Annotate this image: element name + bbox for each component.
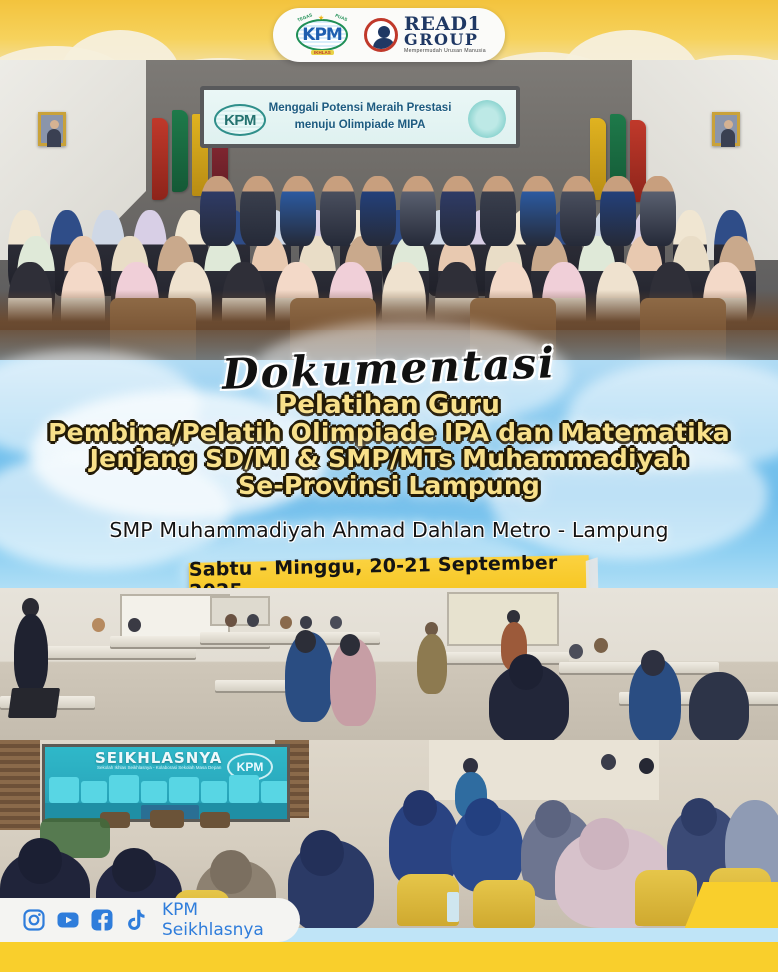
social-media-bar: KPM Seikhlasnya (0, 898, 300, 942)
participant-silhouette (240, 176, 276, 246)
participant-silhouette (400, 176, 436, 246)
flag-green (172, 110, 188, 192)
facebook-icon[interactable] (90, 908, 114, 932)
social-handle: KPM Seikhlasnya (162, 900, 300, 940)
hall-screen-subtitle: Sekolah Ikhlas Seikhlasnya - Kolaborasi … (97, 765, 227, 772)
photo-classroom-right (389, 588, 778, 740)
muhammadiyah-sun-emblem (468, 100, 506, 138)
participant-silhouette (640, 176, 676, 246)
wall-portrait-left (38, 112, 66, 146)
participant-silhouette (280, 176, 316, 246)
stage-screen-line1: Menggali Potensi Meraih Prestasi (253, 100, 468, 117)
youtube-icon[interactable] (56, 908, 80, 932)
participant-silhouette (320, 176, 356, 246)
kpm-logo: KPM TEGAS PUAS IKHLAS ★ (292, 15, 352, 55)
read1-logo-tagline: Mempermudah Urusan Manusia (404, 49, 486, 54)
participant-silhouette (600, 176, 636, 246)
participant-silhouette (440, 176, 476, 246)
photo-classroom-left (0, 588, 389, 740)
flag-red (152, 118, 168, 200)
stage-projector-screen: KPM Menggali Potensi Meraih Prestasi men… (200, 86, 520, 148)
stage-screen-line2: menuju Olimpiade MIPA (253, 117, 468, 134)
footer-yellow-bar (0, 942, 778, 972)
star-icon: ★ (318, 14, 324, 22)
title-line-3: Jenjang SD/MI & SMP/MTs Muhammadiyah (0, 446, 778, 473)
participant-silhouette (560, 176, 596, 246)
instagram-icon[interactable] (22, 908, 46, 932)
participant-silhouette (480, 176, 516, 246)
photo-hall-right (389, 740, 778, 928)
title-line-4: Se-Provinsi Lampung (0, 473, 778, 500)
read1-group-logo: READ1 GROUP Mempermudah Urusan Manusia (364, 16, 486, 54)
participant-silhouette (360, 176, 396, 246)
venue-text: SMP Muhammadiyah Ahmad Dahlan Metro - La… (0, 518, 778, 542)
photo-group-opening-ceremony: KPM Menggali Potensi Meraih Prestasi men… (0, 60, 778, 360)
participant-silhouette (200, 176, 236, 246)
laptop-icon (8, 688, 60, 718)
tiktok-icon[interactable] (124, 908, 148, 932)
title-line-1: Pelatihan Guru (0, 392, 778, 420)
photo-row-classroom (0, 588, 778, 740)
read1-emblem-icon (364, 18, 398, 52)
water-bottle (447, 892, 459, 922)
wall-portrait-right (712, 112, 740, 146)
participant-silhouette (520, 176, 556, 246)
title-line-2: Pembina/Pelatih Olimpiade IPA dan Matema… (0, 420, 778, 447)
event-title-block: Pelatihan Guru Pembina/Pelatih Olimpiade… (0, 392, 778, 499)
stage-screen-kpm-logo: KPM (214, 104, 266, 136)
header-logo-bar: KPM TEGAS PUAS IKHLAS ★ READ1 GROUP Memp… (273, 8, 505, 62)
kpm-logo-text: KPM (302, 25, 342, 45)
read1-logo-line2: GROUP (404, 33, 486, 48)
kpm-logo-ikhlas: IKHLAS (311, 50, 334, 55)
event-documentation-poster: KPM Menggali Potensi Meraih Prestasi men… (0, 0, 778, 972)
